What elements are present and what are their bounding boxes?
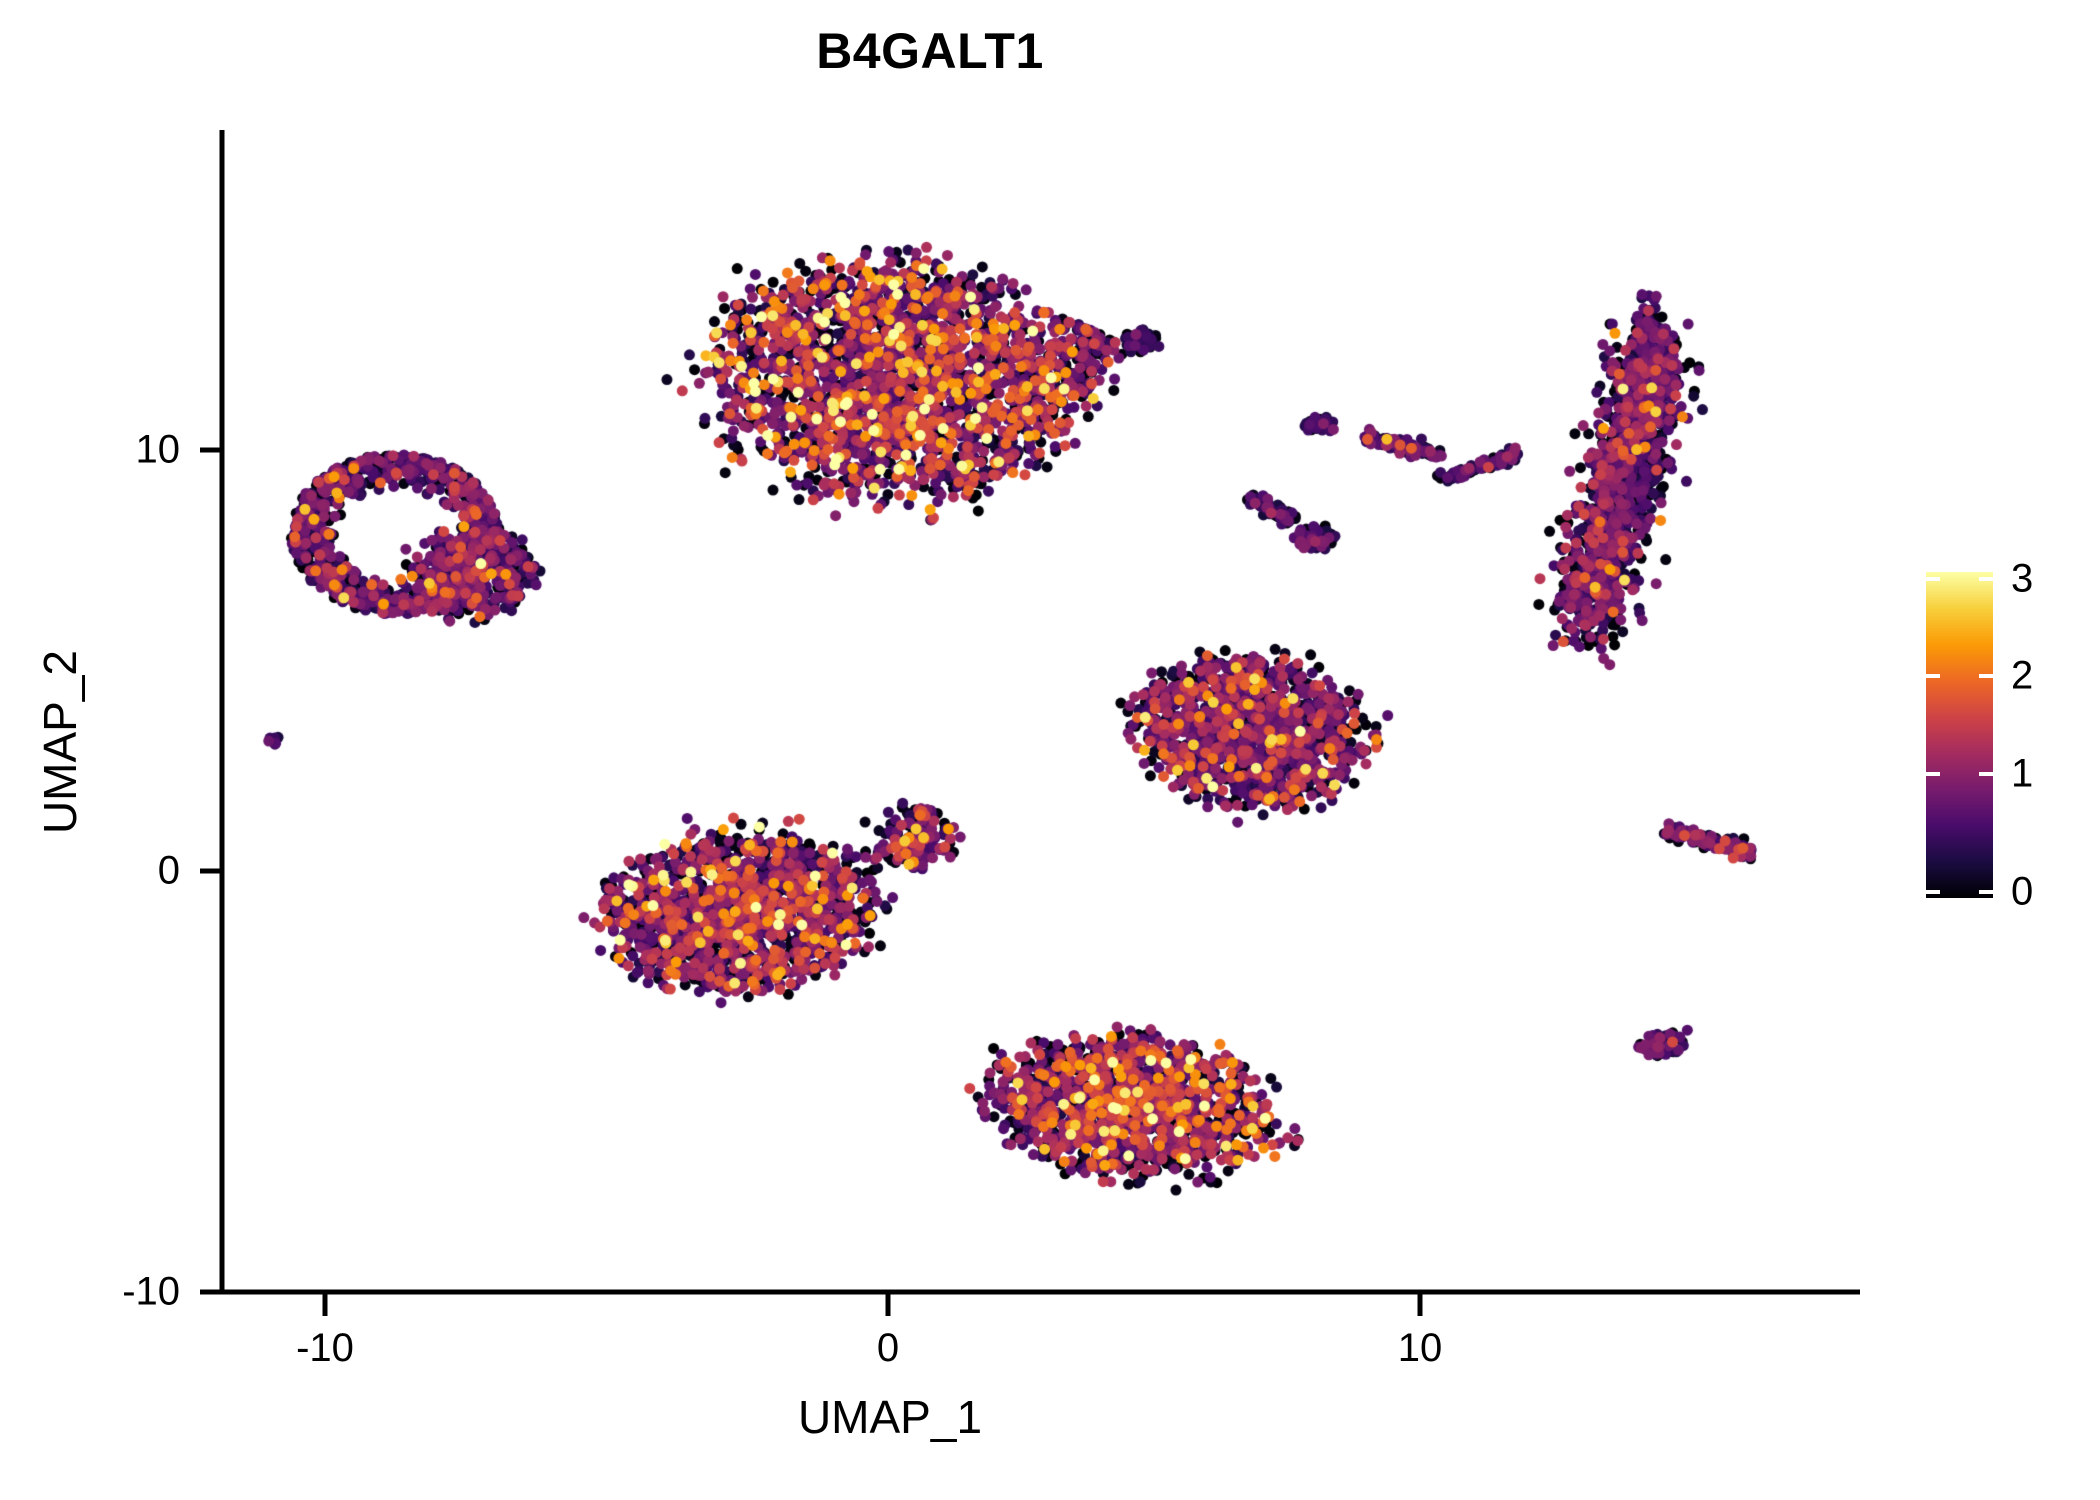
colorbar-label-0: 0: [2011, 870, 2033, 915]
y-axis-title: UMAP_2: [33, 542, 87, 942]
colorbar-tick-1-right: [1979, 772, 1993, 776]
x-axis-title: UMAP_1: [620, 1390, 1160, 1444]
y-tick-label-neg10: -10: [40, 1270, 180, 1315]
colorbar-tick-0-left: [1926, 890, 1940, 894]
umap-figure: B4GALT1 10 0 -10 -10 0 10 UMAP_2 UMAP_1: [0, 0, 2100, 1500]
colorbar-tick-2-left: [1926, 674, 1940, 678]
colorbar-label-2: 2: [2011, 654, 2033, 699]
colorbar-gradient: [1926, 572, 1993, 898]
colorbar-tick-3-left: [1926, 577, 1940, 581]
colorbar-tick-1-left: [1926, 772, 1940, 776]
colorbar-label-1: 1: [2011, 752, 2033, 797]
y-axis-ticks: [200, 450, 222, 1292]
axis-lines: [222, 130, 1860, 1292]
colorbar-tick-3-right: [1979, 577, 1993, 581]
x-axis-ticks: [325, 1292, 1420, 1316]
x-tick-label-neg10: -10: [296, 1326, 354, 1371]
axes-layer: [0, 0, 2100, 1500]
x-tick-label-10: 10: [1398, 1326, 1443, 1371]
y-tick-label-10: 10: [60, 428, 180, 473]
x-tick-label-0: 0: [877, 1326, 899, 1371]
colorbar-tick-0-right: [1979, 890, 1993, 894]
colorbar-label-3: 3: [2011, 557, 2033, 602]
colorbar-legend: 3 2 1 0: [1926, 572, 1993, 898]
colorbar-tick-2-right: [1979, 674, 1993, 678]
